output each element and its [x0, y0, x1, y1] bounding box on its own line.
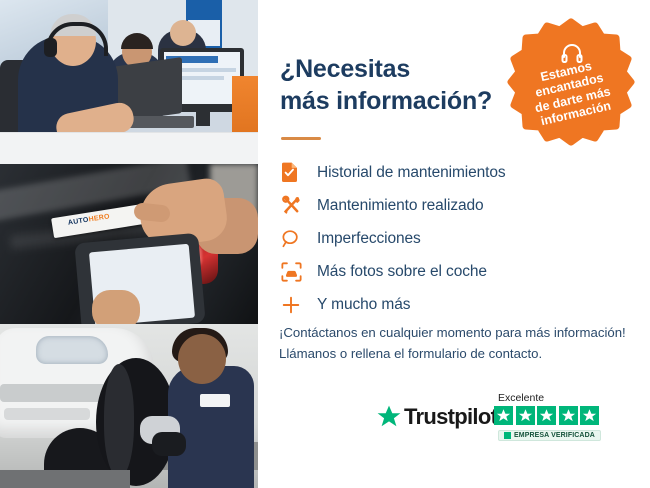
autohero-ruler-brand: AUTOHERO	[68, 213, 111, 227]
list-item: Mantenimiento realizado	[278, 189, 638, 222]
verified-company-badge: EMPRESA VERIFICADA	[498, 430, 601, 441]
star-box	[537, 406, 556, 425]
star-box	[580, 406, 599, 425]
list-item: Más fotos sobre el coche	[278, 255, 638, 288]
feature-list: Historial de mantenimientos Mantenimient…	[278, 156, 638, 321]
content-panel: ¿Necesitas más información? Estamos enca…	[258, 0, 650, 488]
trustpilot-star-icon	[376, 404, 402, 430]
inspection-ruler-on-car-photo: AUTOHERO	[0, 164, 258, 324]
verified-company-label: EMPRESA VERIFICADA	[514, 432, 595, 439]
star-box	[494, 406, 513, 425]
trustpilot-widget[interactable]: Trustpilot Excelente	[376, 392, 646, 452]
trustpilot-rating-label: Excelente	[498, 392, 544, 404]
info-badge: Estamos encantados de darte más informac…	[507, 18, 635, 146]
list-item-label: Mantenimiento realizado	[317, 197, 484, 215]
magnifier-icon	[278, 227, 317, 251]
photo-column: AUTOHERO	[0, 0, 258, 488]
plus-icon	[278, 293, 317, 317]
list-item-label: Más fotos sobre el coche	[317, 263, 487, 281]
heading-line-2: más información?	[280, 86, 530, 118]
list-item-label: Y mucho más	[317, 296, 410, 314]
mechanic-wheel-inspection-photo	[0, 324, 258, 488]
trustpilot-logo[interactable]: Trustpilot	[376, 404, 497, 430]
trustpilot-name: Trustpilot	[404, 404, 497, 430]
star-box	[559, 406, 578, 425]
list-item: Historial de mantenimientos	[278, 156, 638, 189]
call-center-agents-photo	[0, 0, 258, 164]
promo-banner: AUTOHERO ¿Necesitas más información?	[0, 0, 650, 488]
list-item: Y mucho más	[278, 288, 638, 321]
heading-line-1: ¿Necesitas	[280, 54, 530, 86]
contact-line-1: ¡Contáctanos en cualquier momento para m…	[279, 322, 629, 343]
list-item: Imperfecciones	[278, 222, 638, 255]
title-underline-divider	[281, 137, 321, 140]
document-check-icon	[278, 161, 317, 185]
page-title: ¿Necesitas más información?	[280, 54, 530, 117]
contact-text: ¡Contáctanos en cualquier momento para m…	[279, 322, 629, 365]
star-box	[516, 406, 535, 425]
contact-line-2: Llámanos o rellena el formulario de cont…	[279, 343, 629, 364]
verified-check-icon	[504, 432, 511, 439]
car-scan-icon	[278, 260, 317, 284]
list-item-label: Historial de mantenimientos	[317, 164, 506, 182]
tools-cross-icon	[278, 194, 317, 218]
trustpilot-star-rating	[494, 406, 599, 425]
list-item-label: Imperfecciones	[317, 230, 421, 248]
